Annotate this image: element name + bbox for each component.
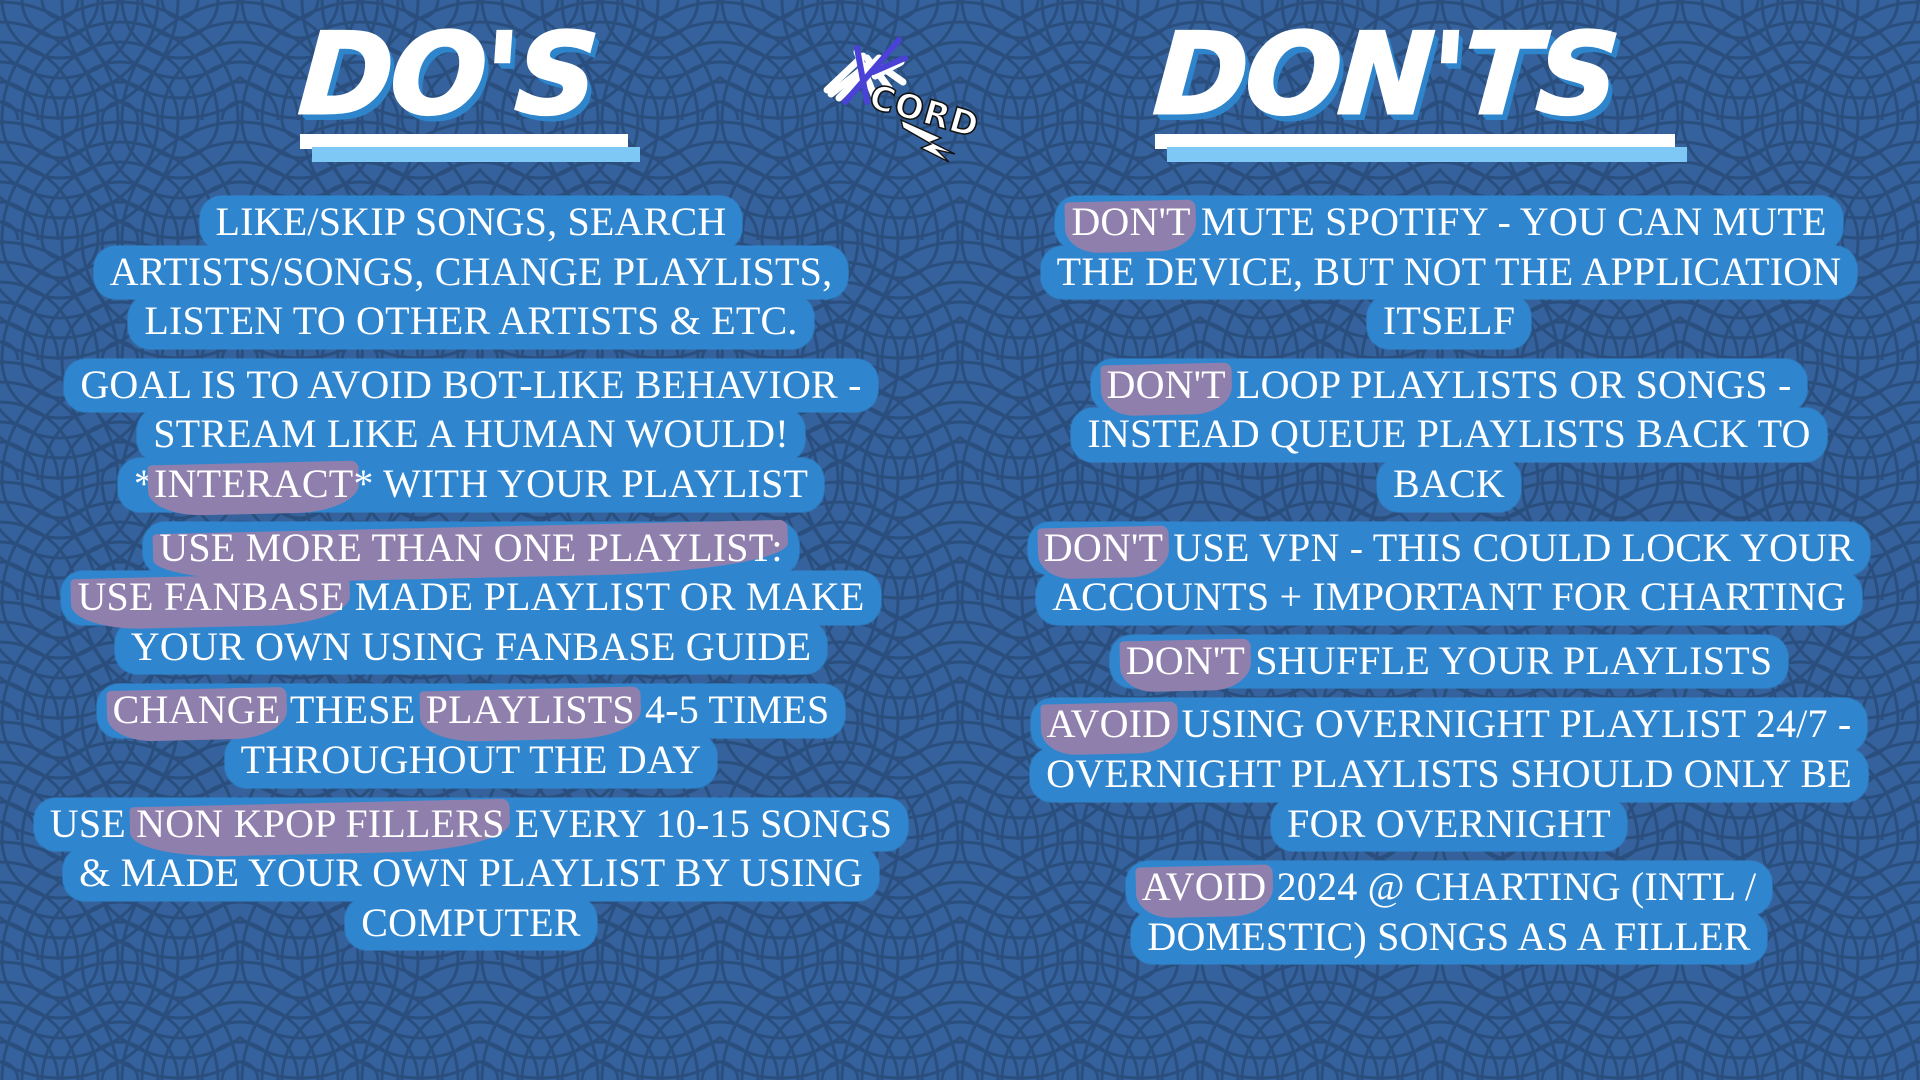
line-highlight-tape: *INTERACT* WITH YOUR PLAYLIST	[118, 458, 824, 512]
advice-line: GOAL IS TO AVOID BOT-LIKE BEHAVIOR -	[0, 359, 942, 413]
line-highlight-tape: FOR OVERNIGHT	[1271, 798, 1627, 852]
advice-line: ITSELF	[978, 295, 1920, 349]
marker-highlight: DON'T	[1107, 362, 1226, 408]
line-text: THESE	[280, 687, 425, 732]
line-text: & MADE YOUR OWN PLAYLIST BY USING	[79, 850, 863, 895]
line-highlight-tape: AVOID USING OVERNIGHT PLAYLIST 24/7 -	[1031, 698, 1868, 752]
line-highlight-tape: INSTEAD QUEUE PLAYLISTS BACK TO	[1071, 408, 1826, 462]
line-text: USING OVERNIGHT PLAYLIST 24/7 -	[1171, 701, 1851, 746]
kpopcord-logo: CORD	[805, 28, 1005, 178]
marker-highlight: INTERACT	[154, 461, 353, 507]
advice-line: YOUR OWN USING FANBASE GUIDE	[0, 621, 942, 675]
line-text: LOOP PLAYLISTS OR SONGS -	[1226, 362, 1792, 407]
advice-block: DON'T USE VPN - THIS COULD LOCK YOURACCO…	[960, 522, 1920, 625]
line-text: THROUGHOUT THE DAY	[241, 737, 702, 782]
advice-line: BACK	[978, 458, 1920, 512]
advice-line: DON'T LOOP PLAYLISTS OR SONGS -	[978, 359, 1920, 413]
line-text: STREAM LIKE A HUMAN WOULD!	[153, 411, 789, 456]
donts-title-group: DON'TS	[1155, 22, 1740, 164]
advice-line: AVOID 2024 @ CHARTING (INTL /	[978, 861, 1920, 915]
line-highlight-tape: DOMESTIC) SONGS AS A FILLER	[1131, 911, 1766, 965]
poster-root: DO'S DON'TS	[0, 0, 1920, 1080]
line-highlight-tape: DON'T USE VPN - THIS COULD LOCK YOUR	[1028, 522, 1870, 576]
marker-highlight: CHANGE	[113, 687, 281, 733]
advice-line: INSTEAD QUEUE PLAYLISTS BACK TO	[978, 408, 1920, 462]
marker-highlight: DON'T	[1071, 199, 1190, 245]
line-highlight-tape: CHANGE THESE PLAYLISTS 4-5 TIMES	[97, 684, 846, 738]
advice-line: USE MORE THAN ONE PLAYLIST:	[0, 522, 942, 576]
line-text: BACK	[1393, 461, 1505, 506]
advice-block: USE NON KPOP FILLERS EVERY 10-15 SONGS& …	[0, 798, 960, 951]
line-highlight-tape: COMPUTER	[345, 897, 596, 951]
line-highlight-tape: LISTEN TO OTHER ARTISTS & ETC.	[128, 295, 813, 349]
advice-line: STREAM LIKE A HUMAN WOULD!	[0, 408, 942, 462]
advice-line: AVOID USING OVERNIGHT PLAYLIST 24/7 -	[978, 698, 1920, 752]
donts-title: DON'TS	[1151, 22, 1743, 128]
line-text: OVERNIGHT PLAYLISTS SHOULD ONLY BE	[1046, 751, 1852, 796]
advice-line: LISTEN TO OTHER ARTISTS & ETC.	[0, 295, 942, 349]
advice-line: THROUGHOUT THE DAY	[0, 734, 942, 788]
line-highlight-tape: ACCOUNTS + IMPORTANT FOR CHARTING	[1036, 571, 1862, 625]
advice-line: USE FANBASE MADE PLAYLIST OR MAKE	[0, 571, 942, 625]
line-text: USE VPN - THIS COULD LOCK YOUR	[1163, 525, 1854, 570]
line-text: LIKE/SKIP SONGS, SEARCH	[216, 199, 727, 244]
line-text: YOUR OWN USING FANBASE GUIDE	[131, 624, 811, 669]
line-highlight-tape: OVERNIGHT PLAYLISTS SHOULD ONLY BE	[1030, 748, 1868, 802]
advice-line: ACCOUNTS + IMPORTANT FOR CHARTING	[978, 571, 1920, 625]
marker-highlight: AVOID	[1047, 701, 1172, 747]
line-text: MADE PLAYLIST OR MAKE	[345, 574, 865, 619]
header: DO'S DON'TS	[0, 0, 1920, 215]
advice-line: FOR OVERNIGHT	[978, 798, 1920, 852]
line-highlight-tape: USE MORE THAN ONE PLAYLIST:	[143, 522, 798, 576]
line-highlight-tape: ARTISTS/SONGS, CHANGE PLAYLISTS,	[94, 246, 849, 300]
donts-title-underline	[1155, 134, 1740, 164]
line-text: ARTISTS/SONGS, CHANGE PLAYLISTS,	[110, 249, 833, 294]
line-highlight-tape: AVOID 2024 @ CHARTING (INTL /	[1126, 861, 1773, 915]
advice-line: LIKE/SKIP SONGS, SEARCH	[0, 196, 942, 250]
line-text: MUTE SPOTIFY - YOU CAN MUTE	[1191, 199, 1827, 244]
line-text: GOAL IS TO AVOID BOT-LIKE BEHAVIOR -	[80, 362, 861, 407]
line-text: 2024 @ CHARTING (INTL /	[1266, 864, 1756, 909]
advice-line: ARTISTS/SONGS, CHANGE PLAYLISTS,	[0, 246, 942, 300]
line-text: ITSELF	[1383, 298, 1515, 343]
line-text: USE	[50, 801, 136, 846]
line-highlight-tape: DON'T LOOP PLAYLISTS OR SONGS -	[1091, 359, 1808, 413]
line-text: DOMESTIC) SONGS AS A FILLER	[1147, 914, 1750, 959]
line-text: COMPUTER	[361, 900, 580, 945]
line-text: LISTEN TO OTHER ARTISTS & ETC.	[144, 298, 797, 343]
line-highlight-tape: & MADE YOUR OWN PLAYLIST BY USING	[63, 847, 879, 901]
donts-column: DON'T MUTE SPOTIFY - YOU CAN MUTETHE DEV…	[960, 196, 1920, 974]
marker-highlight: DON'T	[1126, 638, 1245, 684]
advice-line: OVERNIGHT PLAYLISTS SHOULD ONLY BE	[978, 748, 1920, 802]
line-text: SHUFFLE YOUR PLAYLISTS	[1245, 638, 1772, 683]
advice-block: AVOID USING OVERNIGHT PLAYLIST 24/7 -OVE…	[960, 698, 1920, 851]
advice-block: DON'T LOOP PLAYLISTS OR SONGS -INSTEAD Q…	[960, 359, 1920, 512]
dos-title: DO'S	[296, 22, 723, 128]
line-highlight-tape: LIKE/SKIP SONGS, SEARCH	[200, 196, 743, 250]
advice-line: DON'T MUTE SPOTIFY - YOU CAN MUTE	[978, 196, 1920, 250]
advice-block: USE MORE THAN ONE PLAYLIST:USE FANBASE M…	[0, 522, 960, 675]
marker-highlight: NON KPOP FILLERS	[136, 801, 504, 847]
line-text: FOR OVERNIGHT	[1287, 801, 1611, 846]
line-highlight-tape: ITSELF	[1367, 295, 1531, 349]
advice-line: DON'T SHUFFLE YOUR PLAYLISTS	[978, 635, 1920, 689]
dos-column: LIKE/SKIP SONGS, SEARCHARTISTS/SONGS, CH…	[0, 196, 960, 960]
marker-highlight: USE MORE THAN ONE PLAYLIST:	[159, 525, 782, 571]
underline-bar-blue	[1167, 147, 1687, 162]
line-highlight-tape: BACK	[1377, 458, 1521, 512]
line-highlight-tape: DON'T SHUFFLE YOUR PLAYLISTS	[1110, 635, 1789, 689]
line-text: EVERY 10-15 SONGS	[505, 801, 893, 846]
line-text: 4-5 TIMES	[635, 687, 830, 732]
line-highlight-tape: USE FANBASE MADE PLAYLIST OR MAKE	[61, 571, 880, 625]
marker-highlight: PLAYLISTS	[426, 687, 635, 733]
marker-highlight: AVOID	[1142, 864, 1267, 910]
line-text: INSTEAD QUEUE PLAYLISTS BACK TO	[1087, 411, 1810, 456]
advice-line: USE NON KPOP FILLERS EVERY 10-15 SONGS	[0, 798, 942, 852]
line-highlight-tape: YOUR OWN USING FANBASE GUIDE	[115, 621, 827, 675]
advice-block: DON'T SHUFFLE YOUR PLAYLISTS	[960, 635, 1920, 689]
advice-block: LIKE/SKIP SONGS, SEARCHARTISTS/SONGS, CH…	[0, 196, 960, 349]
line-highlight-tape: STREAM LIKE A HUMAN WOULD!	[137, 408, 805, 462]
advice-block: AVOID 2024 @ CHARTING (INTL /DOMESTIC) S…	[960, 861, 1920, 964]
line-text: * WITH YOUR PLAYLIST	[353, 461, 808, 506]
line-highlight-tape: THROUGHOUT THE DAY	[225, 734, 718, 788]
dos-title-group: DO'S	[300, 22, 720, 164]
advice-line: CHANGE THESE PLAYLISTS 4-5 TIMES	[0, 684, 942, 738]
advice-line: THE DEVICE, BUT NOT THE APPLICATION	[978, 246, 1920, 300]
advice-line: & MADE YOUR OWN PLAYLIST BY USING	[0, 847, 942, 901]
marker-highlight: USE FANBASE	[77, 574, 344, 620]
advice-block: CHANGE THESE PLAYLISTS 4-5 TIMESTHROUGHO…	[0, 684, 960, 787]
advice-line: DON'T USE VPN - THIS COULD LOCK YOUR	[978, 522, 1920, 576]
line-highlight-tape: USE NON KPOP FILLERS EVERY 10-15 SONGS	[34, 798, 909, 852]
advice-line: DOMESTIC) SONGS AS A FILLER	[978, 911, 1920, 965]
advice-block: DON'T MUTE SPOTIFY - YOU CAN MUTETHE DEV…	[960, 196, 1920, 349]
advice-line: COMPUTER	[0, 897, 942, 951]
dos-title-underline	[300, 134, 720, 164]
line-text: THE DEVICE, BUT NOT THE APPLICATION	[1057, 249, 1842, 294]
line-highlight-tape: THE DEVICE, BUT NOT THE APPLICATION	[1041, 246, 1858, 300]
line-highlight-tape: DON'T MUTE SPOTIFY - YOU CAN MUTE	[1055, 196, 1842, 250]
line-highlight-tape: GOAL IS TO AVOID BOT-LIKE BEHAVIOR -	[64, 359, 877, 413]
marker-highlight: DON'T	[1044, 525, 1163, 571]
underline-bar-blue	[312, 147, 640, 162]
advice-block: GOAL IS TO AVOID BOT-LIKE BEHAVIOR -STRE…	[0, 359, 960, 512]
advice-line: *INTERACT* WITH YOUR PLAYLIST	[0, 458, 942, 512]
line-text: ACCOUNTS + IMPORTANT FOR CHARTING	[1052, 574, 1846, 619]
